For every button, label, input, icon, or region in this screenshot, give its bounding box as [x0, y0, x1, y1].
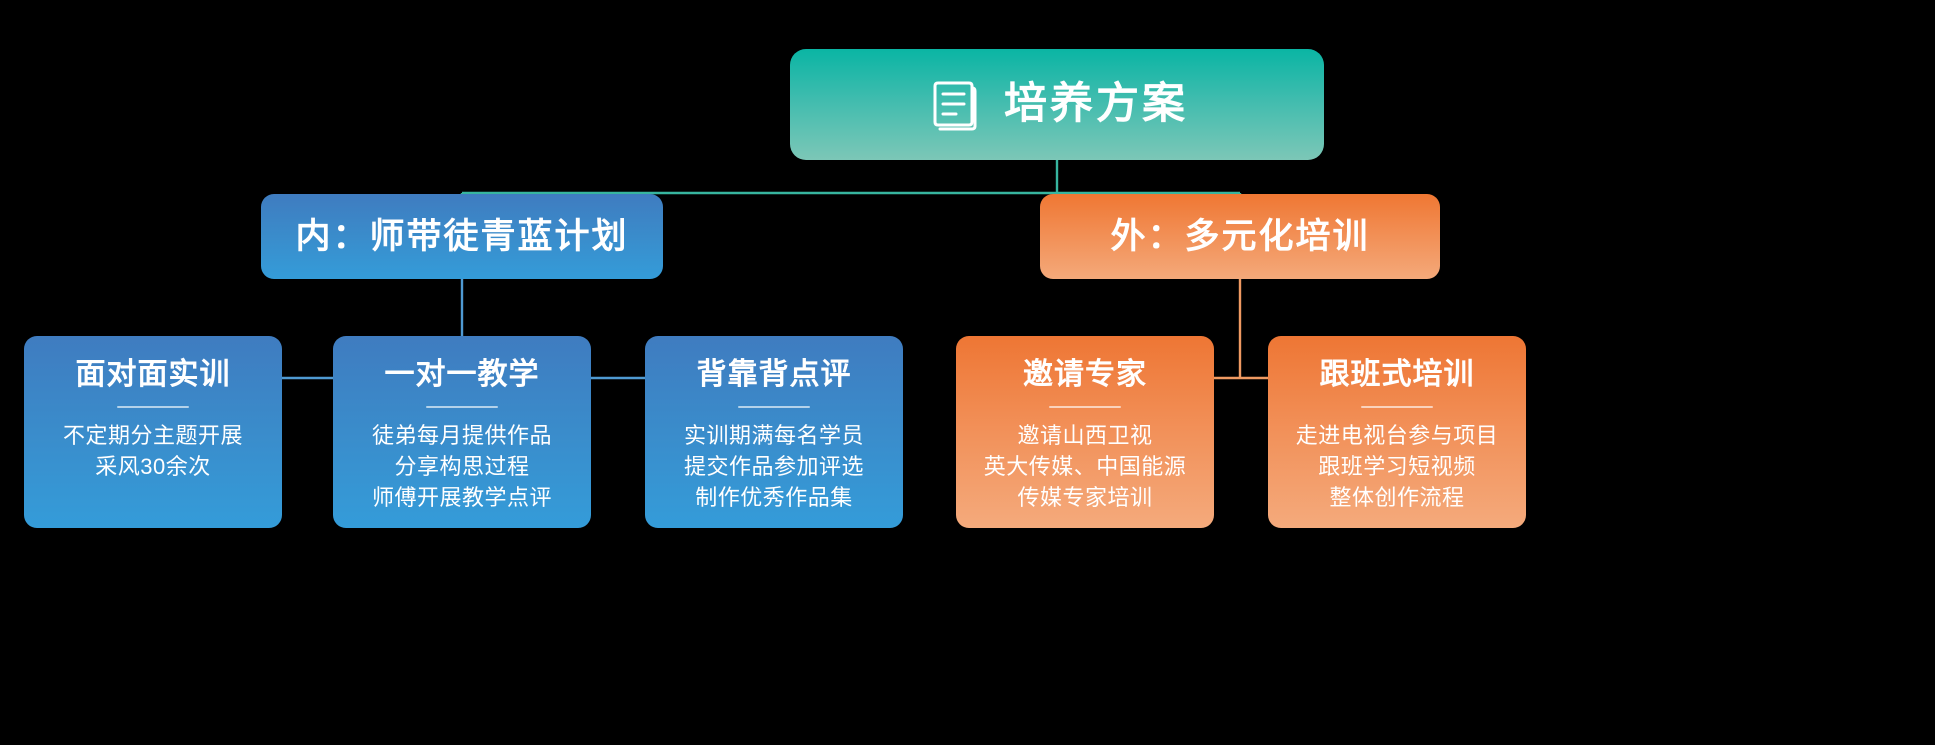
leaf-title: 面对面实训: [76, 358, 231, 391]
leaf-title: 背靠背点评: [697, 358, 852, 391]
leaf-body-line: 走进电视台参与项目: [1296, 420, 1499, 451]
leaf-body-line: 整体创作流程: [1296, 482, 1499, 513]
leaf-body-line: 提交作品参加评选: [684, 451, 864, 482]
leaf-node-face-to-face[interactable]: 面对面实训 不定期分主题开展 采风30余次: [24, 336, 282, 528]
leaf-body: 不定期分主题开展 采风30余次: [63, 420, 243, 482]
leaf-body-line: 跟班学习短视频: [1296, 451, 1499, 482]
leaf-divider: [738, 406, 810, 408]
leaf-body: 实训期满每名学员 提交作品参加评选 制作优秀作品集: [684, 420, 864, 514]
leaf-node-one-to-one[interactable]: 一对一教学 徒弟每月提供作品 分享构思过程 师傅开展教学点评: [333, 336, 591, 528]
leaf-divider: [1049, 406, 1121, 408]
branch-inner-title: 内：师带徒青蓝计划: [295, 219, 628, 254]
leaf-body-line: 徒弟每月提供作品: [372, 420, 552, 451]
leaf-node-back-to-back[interactable]: 背靠背点评 实训期满每名学员 提交作品参加评选 制作优秀作品集: [645, 336, 903, 528]
leaf-body: 邀请山西卫视 英大传媒、中国能源 传媒专家培训: [984, 420, 1187, 514]
documents-icon: [926, 76, 978, 134]
branch-outer-title: 外：多元化培训: [1110, 219, 1369, 254]
leaf-body-line: 邀请山西卫视: [984, 420, 1187, 451]
branch-node-outer[interactable]: 外：多元化培训: [1040, 194, 1440, 279]
leaf-title: 跟班式培训: [1320, 358, 1475, 391]
leaf-body-line: 分享构思过程: [372, 451, 552, 482]
root-title: 培养方案: [1004, 83, 1188, 126]
leaf-body: 走进电视台参与项目 跟班学习短视频 整体创作流程: [1296, 420, 1499, 514]
leaf-divider: [117, 406, 189, 408]
leaf-body-line: 实训期满每名学员: [684, 420, 864, 451]
root-node[interactable]: 培养方案: [790, 49, 1324, 160]
leaf-body-line: 传媒专家培训: [984, 482, 1187, 513]
leaf-divider: [1361, 406, 1433, 408]
branch-node-inner[interactable]: 内：师带徒青蓝计划: [261, 194, 663, 279]
leaf-body-line: 采风30余次: [63, 451, 243, 482]
leaf-body-line: 英大传媒、中国能源: [984, 451, 1187, 482]
leaf-body-line: 师傅开展教学点评: [372, 482, 552, 513]
leaf-title: 邀请专家: [1023, 358, 1147, 391]
organization-chart: 培养方案 内：师带徒青蓝计划 外：多元化培训 面对面实训 不定期分主题开展 采风…: [0, 0, 1935, 745]
leaf-body-line: 制作优秀作品集: [684, 482, 864, 513]
leaf-divider: [426, 406, 498, 408]
leaf-body: 徒弟每月提供作品 分享构思过程 师傅开展教学点评: [372, 420, 552, 514]
leaf-title: 一对一教学: [385, 358, 540, 391]
leaf-node-shadow-training[interactable]: 跟班式培训 走进电视台参与项目 跟班学习短视频 整体创作流程: [1268, 336, 1526, 528]
leaf-node-invite-experts[interactable]: 邀请专家 邀请山西卫视 英大传媒、中国能源 传媒专家培训: [956, 336, 1214, 528]
leaf-body-line: 不定期分主题开展: [63, 420, 243, 451]
